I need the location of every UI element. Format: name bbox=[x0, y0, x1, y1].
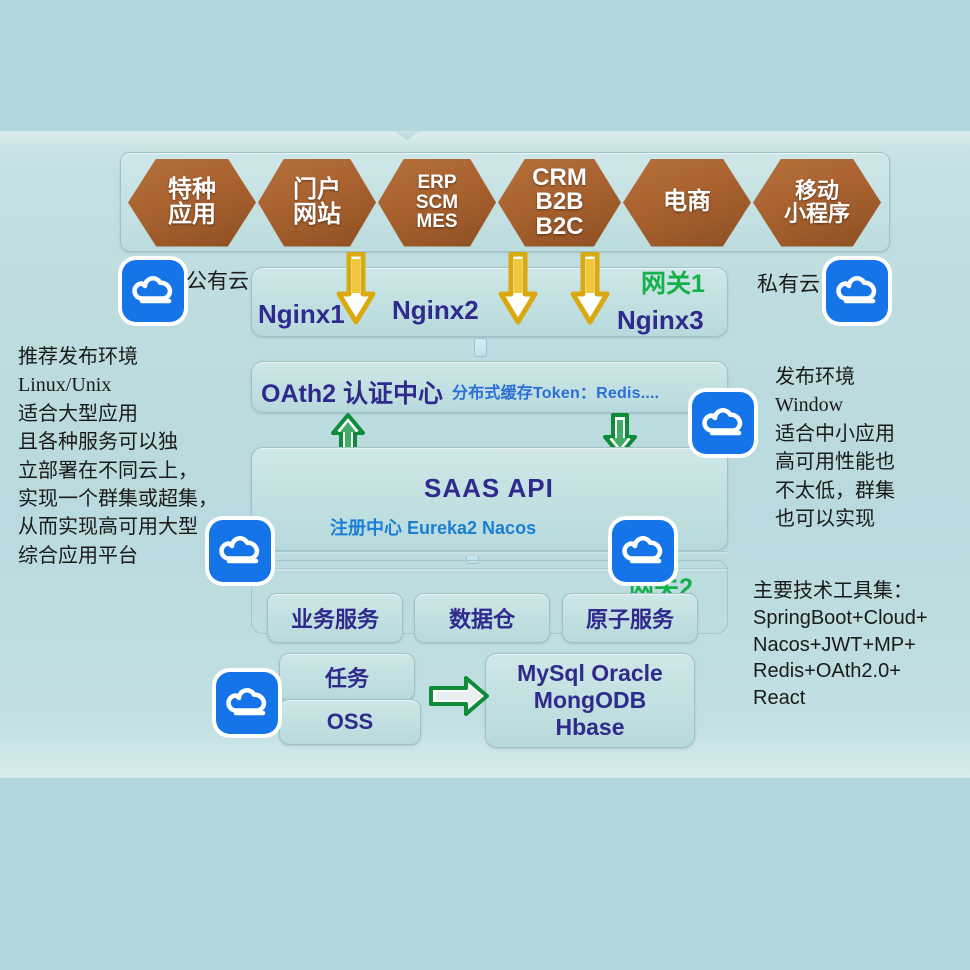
app-hex-ecommerce-label: 电商 bbox=[663, 190, 711, 214]
service-oss[interactable]: OSS bbox=[279, 699, 421, 745]
service-datawarehouse-label: 数据仓 bbox=[449, 602, 515, 634]
cloud-icon-storage[interactable] bbox=[216, 672, 278, 734]
service-oss-label: OSS bbox=[327, 709, 373, 735]
note-left-environment: 推荐发布环境 Linux/Unix 适合大型应用 且各种服务可以独 立部署在不同… bbox=[18, 343, 243, 570]
app-hex-erp-label: ERP SCM MES bbox=[416, 173, 458, 231]
nginx2-label: Nginx2 bbox=[392, 295, 479, 326]
app-hex-ecommerce[interactable]: 电商 bbox=[623, 159, 751, 247]
service-task[interactable]: 任务 bbox=[279, 653, 415, 701]
saas-api-title: SAAS API bbox=[424, 473, 554, 504]
nginx3-label: Nginx3 bbox=[617, 305, 704, 336]
oauth-title: OAth2 认证中心 bbox=[261, 374, 443, 410]
arrow-down-yellow-2 bbox=[498, 252, 538, 326]
note-tech-stack: 主要技术工具集： SpringBoot+Cloud+ Nacos+JWT+MP+… bbox=[753, 578, 968, 712]
cloud-icon-private[interactable] bbox=[826, 260, 888, 322]
registry-label: 注册中心 Eureka2 Nacos bbox=[330, 514, 536, 540]
app-hex-erp[interactable]: ERP SCM MES bbox=[378, 159, 496, 247]
app-hex-special-label: 特种 应用 bbox=[168, 178, 216, 227]
arrow-right-green bbox=[428, 674, 490, 718]
private-cloud-label: 私有云 bbox=[757, 268, 820, 298]
gateway1-label: 网关1 bbox=[641, 264, 705, 300]
service-business[interactable]: 业务服务 bbox=[267, 593, 403, 643]
app-hex-portal[interactable]: 门户 网站 bbox=[258, 159, 376, 247]
app-hex-mobile-label: 移动 小程序 bbox=[784, 180, 850, 225]
service-atomic[interactable]: 原子服务 bbox=[562, 593, 698, 643]
arrow-down-yellow-3 bbox=[570, 252, 610, 326]
cloud-icon-gateway2[interactable] bbox=[612, 520, 674, 582]
diagram-canvas: 特种 应用 门户 网站 ERP SCM MES CRM B2B B2C 电商 移… bbox=[0, 0, 970, 970]
token-cache-label: 分布式缓存Token：Redis.... bbox=[452, 379, 659, 403]
cloud-icon-auth[interactable] bbox=[692, 392, 754, 454]
service-atomic-label: 原子服务 bbox=[586, 602, 674, 634]
note-right-environment: 发布环境 Window 适合中小应用 高可用性能也 不太低，群集 也可以实现 bbox=[775, 363, 965, 533]
database-box[interactable]: MySql Oracle MongODB Hbase bbox=[485, 653, 695, 748]
arrow-down-yellow-1 bbox=[336, 252, 376, 326]
service-business-label: 业务服务 bbox=[291, 602, 379, 634]
app-hex-crm-label: CRM B2B B2C bbox=[532, 166, 587, 239]
app-hex-mobile[interactable]: 移动 小程序 bbox=[753, 159, 881, 247]
app-hex-special[interactable]: 特种 应用 bbox=[128, 159, 256, 247]
app-hex-crm[interactable]: CRM B2B B2C bbox=[498, 159, 621, 247]
app-hex-portal-label: 门户 网站 bbox=[293, 178, 341, 227]
connector-tab-1 bbox=[474, 338, 487, 357]
service-datawarehouse[interactable]: 数据仓 bbox=[414, 593, 550, 643]
cloud-icon-public[interactable] bbox=[122, 260, 184, 322]
service-task-label: 任务 bbox=[325, 661, 369, 693]
nginx1-label: Nginx1 bbox=[258, 299, 345, 330]
public-cloud-label: 公有云 bbox=[186, 265, 249, 295]
database-label: MySql Oracle MongODB Hbase bbox=[517, 660, 663, 741]
application-hex-row: 特种 应用 门户 网站 ERP SCM MES CRM B2B B2C 电商 移… bbox=[128, 155, 883, 250]
